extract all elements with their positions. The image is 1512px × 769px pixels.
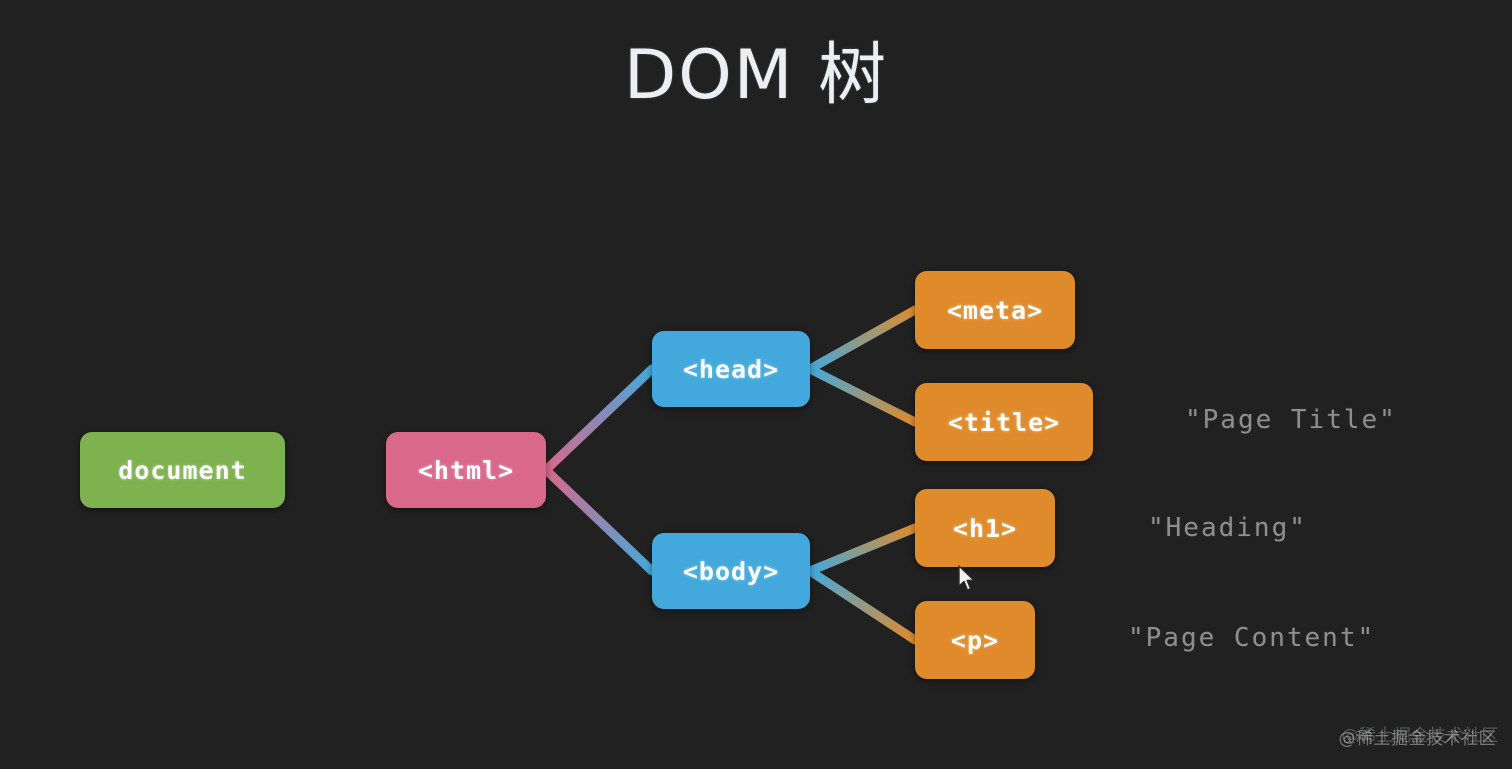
node-label: <p> xyxy=(951,626,999,655)
watermark: @稀土掘金技术社区 @稀土掘金技术社区 xyxy=(1339,724,1497,749)
node-html[interactable]: <html> xyxy=(386,432,546,508)
node-label: <head> xyxy=(683,355,779,384)
node-body[interactable]: <body> xyxy=(652,533,810,609)
node-label: <meta> xyxy=(947,296,1043,325)
node-label: <body> xyxy=(683,557,779,586)
edge-body-p xyxy=(810,571,915,640)
node-label: <html> xyxy=(418,456,514,485)
node-p[interactable]: <p> xyxy=(915,601,1035,679)
node-meta[interactable]: <meta> xyxy=(915,271,1075,349)
text-node-page-content: "Page Content" xyxy=(1128,623,1375,653)
text-node-heading: "Heading" xyxy=(1148,513,1307,543)
text-node-page-title: "Page Title" xyxy=(1185,405,1397,435)
node-label: document xyxy=(118,456,246,485)
edge-html-head xyxy=(546,369,652,470)
node-label: <h1> xyxy=(953,514,1017,543)
node-h1[interactable]: <h1> xyxy=(915,489,1055,567)
edge-head-meta xyxy=(810,310,915,369)
dom-tree-slide: DOM 树 xyxy=(0,0,1512,769)
node-title[interactable]: <title> xyxy=(915,383,1093,461)
node-label: <title> xyxy=(948,408,1060,437)
edge-head-title xyxy=(810,369,915,422)
node-document[interactable]: document xyxy=(80,432,285,508)
node-head[interactable]: <head> xyxy=(652,331,810,407)
watermark-ghost: @稀土掘金技术社区 xyxy=(1342,721,1500,746)
edge-html-body xyxy=(546,470,652,571)
edge-body-h1 xyxy=(810,528,915,571)
